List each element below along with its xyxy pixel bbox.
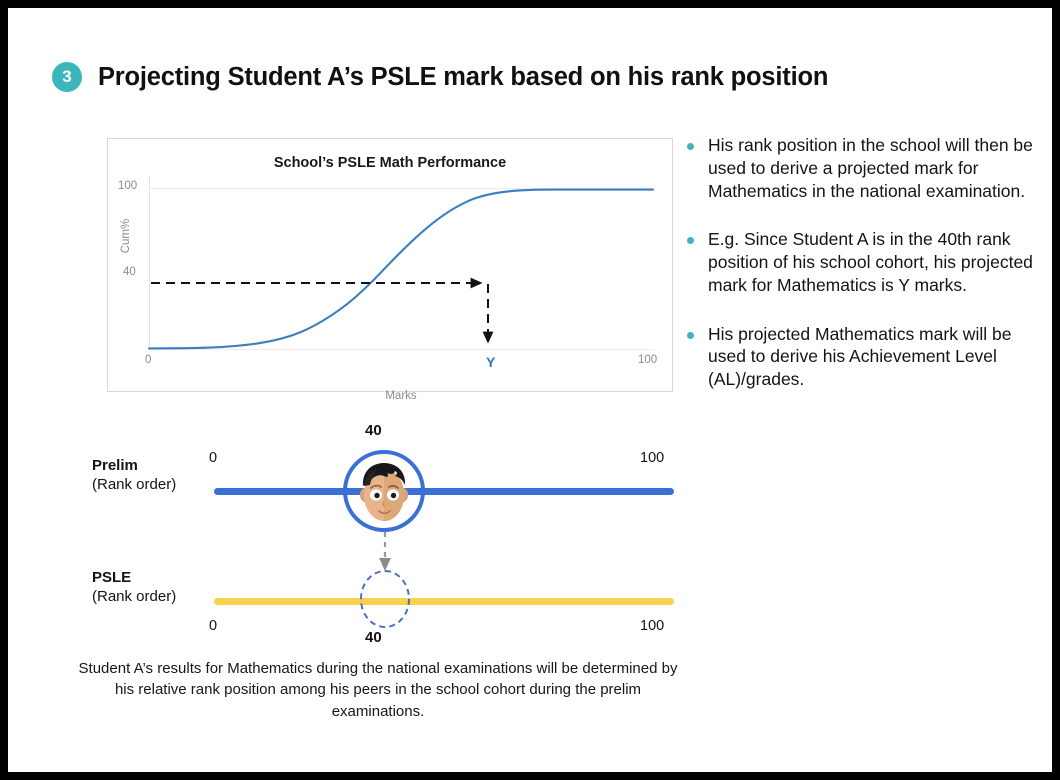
bullet-text: His rank position in the school will the…	[708, 135, 1033, 201]
slide-canvas: 3 Projecting Student A’s PSLE mark based…	[8, 8, 1052, 772]
list-item: E.g. Since Student A is in the 40th rank…	[684, 228, 1044, 296]
chart-block: Rank position in PSLE Math School’s PSLE…	[78, 136, 678, 394]
psle-rank-bar	[214, 598, 674, 605]
list-item: His projected Mathematics mark will be u…	[684, 323, 1044, 391]
page-title: Projecting Student A’s PSLE mark based o…	[98, 63, 828, 92]
prelim-end-label: 100	[640, 450, 664, 466]
bullet-text: His projected Mathematics mark will be u…	[708, 324, 1011, 390]
x-tick-0: 0	[145, 354, 151, 366]
plot-area: Cum% 100 40 0 100	[149, 188, 653, 350]
cumulative-curve	[149, 190, 653, 349]
bullet-text: E.g. Since Student A is in the 40th rank…	[708, 229, 1033, 295]
ogive-curve-svg	[149, 188, 653, 350]
chart-x-axis-label: Marks	[149, 390, 653, 402]
prelim-rank-bar	[214, 488, 674, 495]
x-tick-100: 100	[638, 354, 657, 366]
psle-title: PSLE	[92, 568, 232, 587]
chart-title: School’s PSLE Math Performance	[108, 155, 672, 171]
avatar-highlight-ring	[343, 450, 425, 532]
psle-row-label: PSLE (Rank order)	[92, 568, 232, 606]
list-item: His rank position in the school will the…	[684, 134, 1044, 202]
rank-order-diagram: 40 Prelim (Rank order) 0 100 PSLE (Rank …	[78, 420, 698, 650]
chart-panel: School’s PSLE Math Performance Cum% 100 …	[107, 138, 673, 392]
bullet-dot-icon	[687, 237, 694, 244]
psle-end-label: 100	[640, 618, 664, 634]
step-number-badge: 3	[52, 62, 82, 92]
diagram-caption: Student A’s results for Mathematics duri…	[78, 658, 678, 722]
psle-start-label: 0	[209, 618, 217, 634]
prelim-marker-value: 40	[365, 422, 382, 439]
prelim-subtitle: (Rank order)	[92, 475, 232, 494]
prelim-start-label: 0	[209, 450, 217, 466]
slide-frame: 3 Projecting Student A’s PSLE mark based…	[0, 0, 1060, 780]
bullet-dot-icon	[687, 332, 694, 339]
student-avatar	[343, 450, 425, 532]
psle-projected-position-marker	[360, 570, 410, 628]
chart-y-axis-label: Cum%	[120, 211, 132, 261]
psle-subtitle: (Rank order)	[92, 587, 232, 606]
psle-marker-value: 40	[365, 629, 382, 646]
bullet-dot-icon	[687, 143, 694, 150]
bullet-list: His rank position in the school will the…	[684, 134, 1044, 391]
y-tick-40: 40	[123, 266, 136, 278]
x-marker-Y-label: Y	[486, 354, 495, 370]
y-tick-100: 100	[118, 180, 137, 192]
slide-header: 3 Projecting Student A’s PSLE mark based…	[52, 52, 1012, 102]
